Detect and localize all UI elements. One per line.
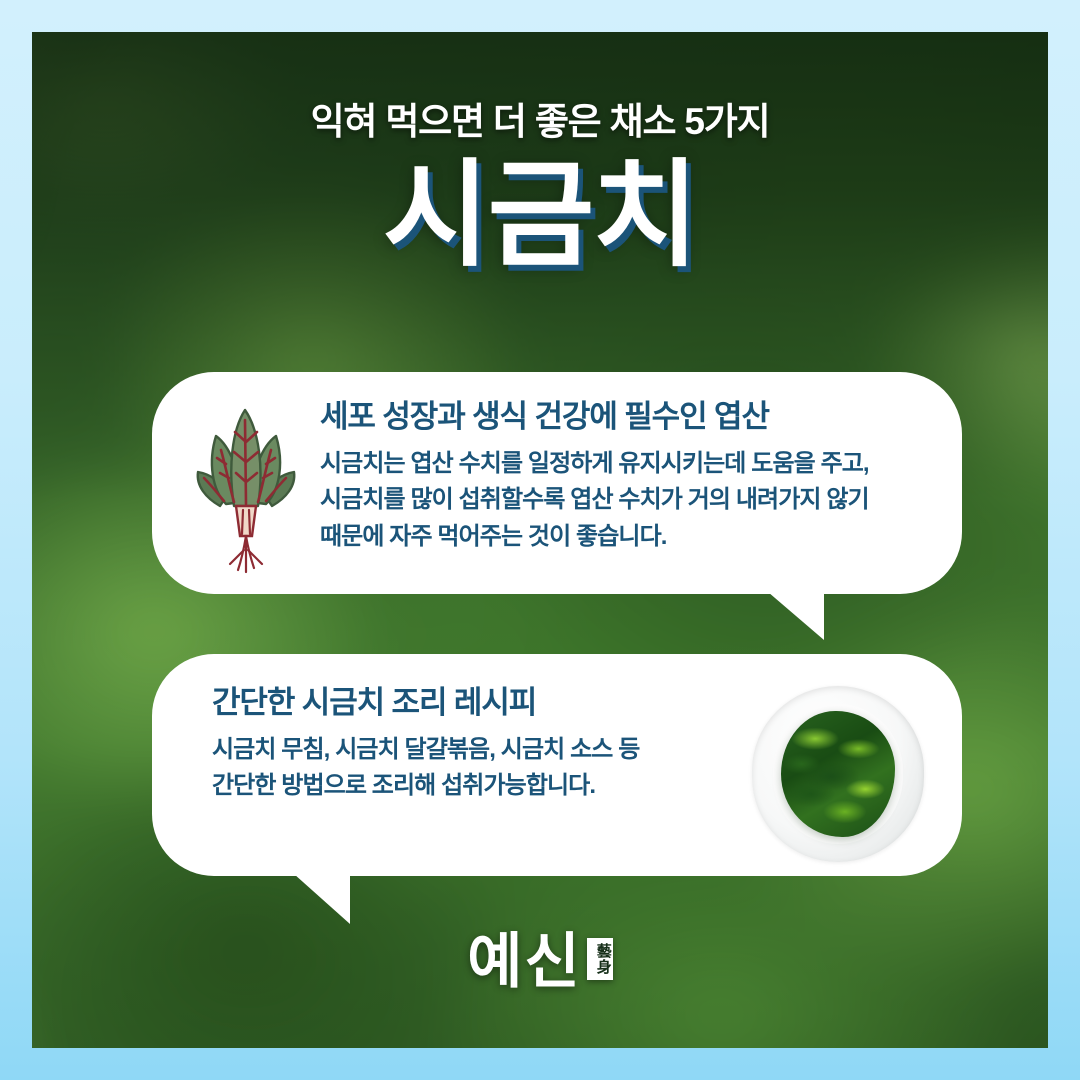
bubble-body: 시금치는 엽산 수치를 일정하게 유지시키는데 도움을 주고, 시금치를 많이 …	[320, 446, 922, 555]
info-bubble-recipe: 간단한 시금치 조리 레시피 시금치 무침, 시금치 달걀볶음, 시금치 소스 …	[152, 654, 962, 876]
card-news-poster: 익혀 먹으면 더 좋은 채소 5가지 시금치	[0, 0, 1080, 1080]
brand-logo-seal: 藝身	[587, 938, 613, 980]
bubble-text-block: 세포 성장과 생식 건강에 필수인 엽산 시금치는 엽산 수치를 일정하게 유지…	[320, 398, 922, 555]
seasoned-spinach-greens	[781, 711, 895, 838]
page-title: 시금치	[32, 151, 1048, 281]
bubble-tail-right	[768, 592, 824, 640]
brand-logo: 예신 藝身	[32, 932, 1048, 992]
bubble-heading: 간단한 시금치 조리 레시피	[212, 684, 736, 722]
series-eyebrow: 익혀 먹으면 더 좋은 채소 5가지	[32, 102, 1048, 143]
bubble-body: 시금치 무침, 시금치 달걀볶음, 시금치 소스 등 간단한 방법으로 조리해 …	[212, 732, 736, 805]
header: 익혀 먹으면 더 좋은 채소 5가지 시금치	[32, 102, 1048, 281]
bubble-heading: 세포 성장과 생식 건강에 필수인 엽산	[320, 398, 922, 436]
bubble-tail-left	[294, 874, 350, 924]
bubble-text-block: 간단한 시금치 조리 레시피 시금치 무침, 시금치 달걀볶음, 시금치 소스 …	[212, 684, 736, 805]
info-bubble-folate: 세포 성장과 생식 건강에 필수인 엽산 시금치는 엽산 수치를 일정하게 유지…	[152, 372, 962, 594]
spinach-dish-photo	[752, 686, 924, 862]
brand-logo-word: 예신	[467, 932, 581, 992]
photo-stage: 익혀 먹으면 더 좋은 채소 5가지 시금치	[32, 32, 1048, 1048]
spinach-bunch-icon	[186, 402, 304, 574]
